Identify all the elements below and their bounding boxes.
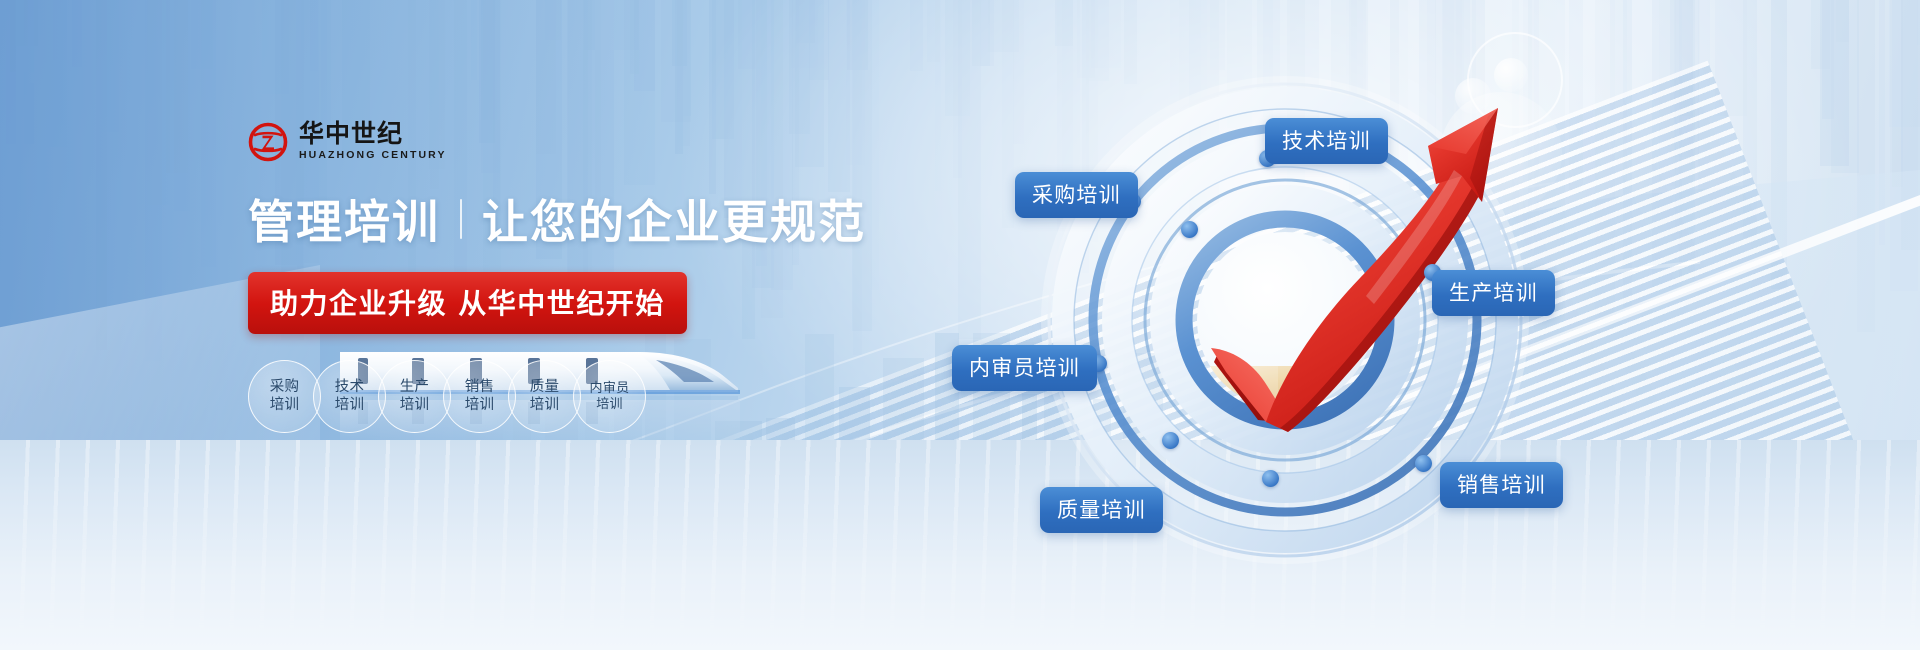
- headline-divider: [460, 199, 462, 239]
- training-chip-line2: 培训: [270, 397, 300, 415]
- callout-pill-internal-auditor-training[interactable]: 内审员培训: [952, 345, 1097, 391]
- callout-pill-quality-training[interactable]: 质量培训: [1040, 487, 1163, 533]
- banner-content: 华中世纪 HUAZHONG CENTURY 管理培训 让您的企业更规范 助力企业…: [248, 120, 888, 433]
- training-chip[interactable]: 生产培训: [378, 360, 451, 433]
- training-chip-line2: 培训: [530, 397, 560, 415]
- callout-pill-production-training[interactable]: 生产培训: [1432, 270, 1555, 316]
- orbit-node-inner-upper-left: [1181, 221, 1198, 238]
- callout-pill-sales-training[interactable]: 销售培训: [1440, 462, 1563, 508]
- brand-wordmark: 华中世纪 HUAZHONG CENTURY: [299, 121, 447, 162]
- brand-logo[interactable]: 华中世纪 HUAZHONG CENTURY: [248, 120, 888, 164]
- training-chip[interactable]: 质量培训: [508, 360, 581, 433]
- training-chip-line1: 采购: [270, 379, 300, 397]
- headline-right: 让您的企业更规范: [482, 186, 866, 252]
- training-chip-line1: 技术: [335, 379, 365, 397]
- training-chip-line1: 内审员: [590, 381, 630, 397]
- training-chip-list: 采购培训技术培训生产培训销售培训质量培训内审员培训: [248, 360, 888, 433]
- callout-pill-procurement-training[interactable]: 采购培训: [1015, 172, 1138, 218]
- callout-pill-technical-training[interactable]: 技术培训: [1265, 118, 1388, 164]
- tagline-badge: 助力企业升级 从华中世纪开始: [248, 272, 687, 334]
- ground-reflection-streaks: [0, 440, 1920, 650]
- training-chip[interactable]: 采购培训: [248, 360, 321, 433]
- training-chip-line2: 培训: [400, 397, 430, 415]
- training-chip[interactable]: 销售培训: [443, 360, 516, 433]
- orbit-node-lower-right: [1415, 455, 1432, 472]
- marketing-banner: 技术培训 采购培训 生产培训 内审员培训 销售培训 质量培训 华中世纪 HUAZ…: [0, 0, 1920, 650]
- training-chip-line1: 质量: [530, 379, 560, 397]
- training-chip-line2: 培训: [335, 397, 365, 415]
- training-chip[interactable]: 技术培训: [313, 360, 386, 433]
- brand-name-en: HUAZHONG CENTURY: [299, 149, 447, 163]
- orbit-node-inner-lower-left: [1162, 432, 1179, 449]
- orbit-node-bottom: [1262, 470, 1279, 487]
- page-title: 管理培训 让您的企业更规范: [248, 186, 888, 252]
- headline-left: 管理培训: [248, 186, 440, 252]
- huazhong-circular-emblem-icon: [248, 122, 288, 162]
- training-chip[interactable]: 内审员培训: [573, 360, 646, 433]
- training-chip-line2: 培训: [596, 397, 623, 413]
- training-chip-line2: 培训: [465, 397, 495, 415]
- brand-name-cn: 华中世纪: [299, 121, 447, 147]
- training-chip-line1: 销售: [465, 379, 495, 397]
- training-chip-line1: 生产: [400, 379, 430, 397]
